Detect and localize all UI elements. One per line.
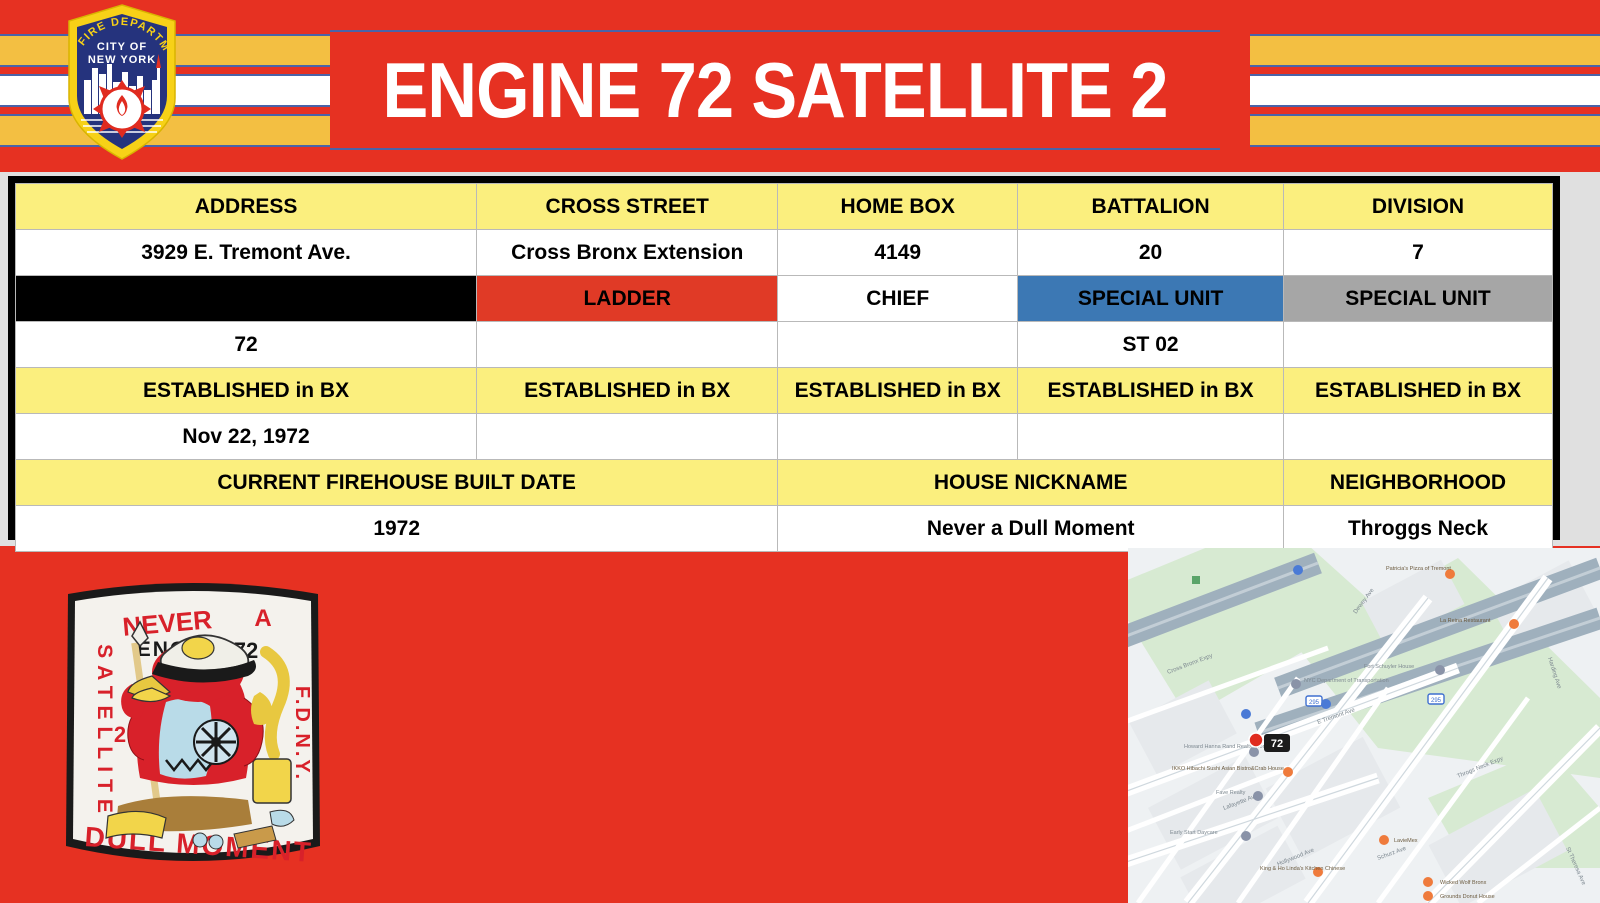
value-special-unit-1: ST 02 bbox=[1018, 322, 1284, 368]
map-poi-3: Fort Schuyler House bbox=[1364, 664, 1414, 670]
header-established-3: ESTABLISHED in BX bbox=[778, 368, 1018, 414]
header-established-2: ESTABLISHED in BX bbox=[477, 368, 778, 414]
map-poi-5: IKKO Hibachi Sushi Asian Bistro&Crab Hou… bbox=[1172, 766, 1284, 772]
map-poi-11: Grounds Donut House bbox=[1440, 894, 1495, 900]
company-patch-image: NEVER A ENGINE 72 SATELLITE 2 F.D.N.Y. D… bbox=[48, 564, 338, 884]
value-address: 3929 E. Tremont Ave. bbox=[16, 230, 477, 276]
fdny-shield-icon: FIRE DEPARTMENT CITY OF NEW YORK bbox=[57, 2, 187, 162]
map-poi-0: Patricia's Pizza of Tremont bbox=[1386, 566, 1451, 572]
header-address: ADDRESS bbox=[16, 184, 477, 230]
value-established-5 bbox=[1284, 414, 1553, 460]
header-house-nickname: HOUSE NICKNAME bbox=[778, 460, 1284, 506]
table-row-headers-3: ESTABLISHED in BX ESTABLISHED in BX ESTA… bbox=[16, 368, 1553, 414]
table-row-headers-2: ENGINE LADDER CHIEF SPECIAL UNIT SPECIAL… bbox=[16, 276, 1553, 322]
map-poi-2: NYC Department of Transportation bbox=[1304, 678, 1389, 684]
map-poi-icon-1 bbox=[1509, 619, 1519, 629]
header-established-4: ESTABLISHED in BX bbox=[1018, 368, 1284, 414]
header-ladder: LADDER bbox=[477, 276, 778, 322]
maltese-cross-graphic bbox=[93, 80, 151, 138]
header-division: DIVISION bbox=[1284, 184, 1553, 230]
header-stripe-gold-right-bottom bbox=[1250, 114, 1600, 147]
table-row-values-1: 3929 E. Tremont Ave. Cross Bronx Extensi… bbox=[16, 230, 1553, 276]
header-firehouse-built-date: CURRENT FIREHOUSE BUILT DATE bbox=[16, 460, 778, 506]
value-established-3 bbox=[778, 414, 1018, 460]
map-poi-7: Early Start Daycare bbox=[1170, 830, 1218, 836]
value-house-nickname: Never a Dull Moment bbox=[778, 506, 1284, 552]
map-poi-8: LavieMex bbox=[1394, 838, 1418, 844]
table-row-values-2: 72 ST 02 bbox=[16, 322, 1553, 368]
header-stripe-white-right bbox=[1250, 74, 1600, 107]
header-engine: ENGINE bbox=[16, 276, 477, 322]
header-chief: CHIEF bbox=[778, 276, 1018, 322]
patch-satellite-text: SATELLITE bbox=[93, 644, 116, 820]
location-map[interactable]: Cross Bronx Expy E Tremont Ave Dewey Ave… bbox=[1128, 548, 1600, 903]
patch-satellite-number: 2 bbox=[114, 722, 126, 747]
map-shield-1: 295 bbox=[1431, 698, 1442, 704]
value-ladder bbox=[477, 322, 778, 368]
map-poi-icon-5 bbox=[1283, 767, 1293, 777]
map-poi-1: La Reina Restaurant bbox=[1440, 618, 1491, 624]
table-row-values-4: 1972 Never a Dull Moment Throggs Neck bbox=[16, 506, 1553, 552]
value-cross-street: Cross Bronx Extension bbox=[477, 230, 778, 276]
value-division: 7 bbox=[1284, 230, 1553, 276]
map-poi-icon-7 bbox=[1241, 831, 1251, 841]
header-battalion: BATTALION bbox=[1018, 184, 1284, 230]
map-transit-icon bbox=[1192, 576, 1200, 584]
header-established-1: ESTABLISHED in BX bbox=[16, 368, 477, 414]
value-established-2 bbox=[477, 414, 778, 460]
shield-line-2: NEW YORK bbox=[88, 54, 156, 66]
header-stripe-gold-right-top bbox=[1250, 34, 1600, 67]
patch-a-text: A bbox=[254, 605, 271, 632]
table-row-headers-1: ADDRESS CROSS STREET HOME BOX BATTALION … bbox=[16, 184, 1553, 230]
map-parking-icon-1 bbox=[1321, 699, 1331, 709]
page-header: ENGINE 72 SATELLITE 2 FIRE DEPARTMENT CI… bbox=[0, 0, 1600, 172]
value-established-4 bbox=[1018, 414, 1284, 460]
map-poi-9: King & Ho Linda's Kitchen Chinese bbox=[1260, 866, 1345, 872]
shield-line-1: CITY OF bbox=[97, 41, 147, 53]
value-engine: 72 bbox=[16, 322, 477, 368]
map-shield-0: 295 bbox=[1309, 700, 1320, 706]
value-chief bbox=[778, 322, 1018, 368]
map-poi-10: Wicked Wolf Bronx bbox=[1440, 880, 1487, 886]
header-established-5: ESTABLISHED in BX bbox=[1284, 368, 1553, 414]
firehouse-info-table: ADDRESS CROSS STREET HOME BOX BATTALION … bbox=[8, 176, 1560, 540]
map-poi-icon-11 bbox=[1423, 891, 1433, 901]
value-home-box: 4149 bbox=[778, 230, 1018, 276]
table-row-headers-4: CURRENT FIREHOUSE BUILT DATE HOUSE NICKN… bbox=[16, 460, 1553, 506]
title-banner: ENGINE 72 SATELLITE 2 bbox=[330, 30, 1220, 150]
map-marker-label: 72 bbox=[1271, 738, 1283, 750]
header-home-box: HOME BOX bbox=[778, 184, 1018, 230]
header-special-unit-1: SPECIAL UNIT bbox=[1018, 276, 1284, 322]
map-poi-6: Fave Realty bbox=[1216, 790, 1246, 796]
value-firehouse-built-date: 1972 bbox=[16, 506, 778, 552]
value-special-unit-2 bbox=[1284, 322, 1553, 368]
patch-fdny-text: F.D.N.Y. bbox=[291, 686, 313, 782]
header-special-unit-2: SPECIAL UNIT bbox=[1284, 276, 1553, 322]
table-row-values-3: Nov 22, 1972 bbox=[16, 414, 1553, 460]
map-poi-icon-2 bbox=[1291, 679, 1301, 689]
map-poi-icon-3 bbox=[1435, 665, 1445, 675]
map-poi-icon-6 bbox=[1253, 791, 1263, 801]
header-cross-street: CROSS STREET bbox=[477, 184, 778, 230]
header-neighborhood: NEIGHBORHOOD bbox=[1284, 460, 1553, 506]
value-neighborhood: Throggs Neck bbox=[1284, 506, 1553, 552]
map-poi-icon-10 bbox=[1423, 877, 1433, 887]
map-parking-icon-0 bbox=[1293, 565, 1303, 575]
value-battalion: 20 bbox=[1018, 230, 1284, 276]
map-poi-icon-8 bbox=[1379, 835, 1389, 845]
map-parking-icon-2 bbox=[1241, 709, 1251, 719]
page-title: ENGINE 72 SATELLITE 2 bbox=[382, 45, 1167, 136]
value-established-1: Nov 22, 1972 bbox=[16, 414, 477, 460]
